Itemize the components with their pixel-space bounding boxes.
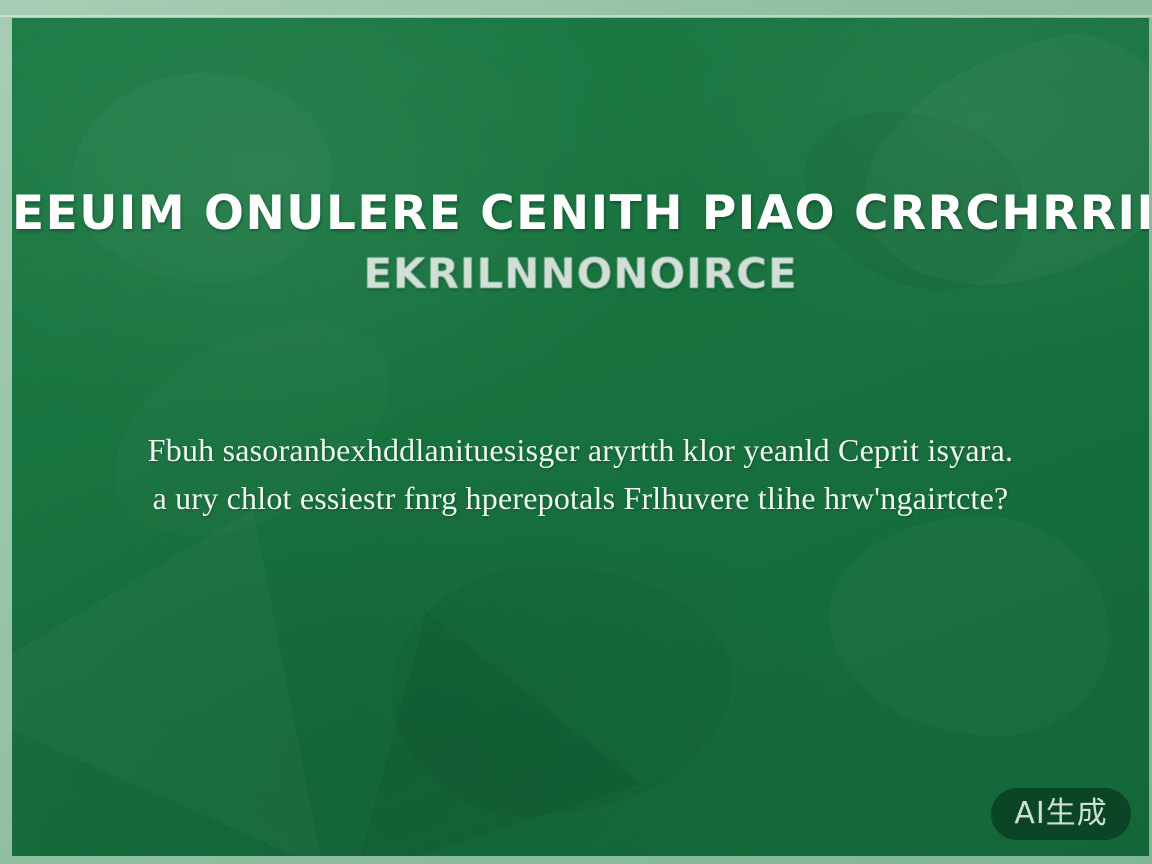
- slide-title-line-2: EKRILNNONOIRCE: [12, 245, 1149, 303]
- blob-shape-icon: [392, 566, 732, 816]
- slide-frame: EEUIM ONULERE CENITH PIAO CRRCHRRIN EKRI…: [0, 0, 1152, 864]
- ai-generated-badge: AI生成: [991, 788, 1131, 840]
- slide-body-line-1: Fbuh sasoranbexhddlanituesisger aryrtth …: [12, 426, 1149, 474]
- blob-shape-icon: [829, 516, 1109, 736]
- slide-canvas: EEUIM ONULERE CENITH PIAO CRRCHRRIN EKRI…: [12, 18, 1149, 856]
- slide-body-block: Fbuh sasoranbexhddlanituesisger aryrtth …: [12, 426, 1149, 522]
- slide-title-line-1: EEUIM ONULERE CENITH PIAO CRRCHRRIN: [12, 183, 1149, 245]
- slide-body-line-2: a ury chlot essiestr fnrg hperepotals Fr…: [12, 474, 1149, 522]
- ai-generated-badge-label: AI生成: [1014, 799, 1107, 829]
- frame-hairline: [0, 15, 1152, 17]
- slide-title-block: EEUIM ONULERE CENITH PIAO CRRCHRRIN EKRI…: [12, 183, 1149, 303]
- triangle-shape-icon: [284, 565, 640, 856]
